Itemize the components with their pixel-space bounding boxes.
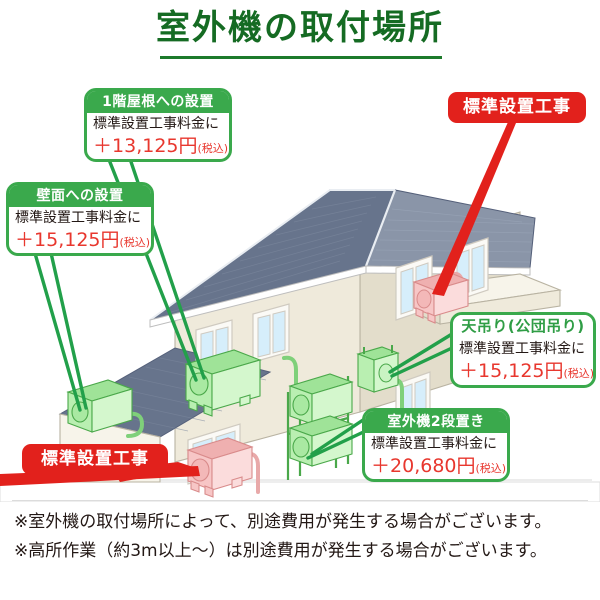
price-value: 15,125 (478, 360, 544, 382)
infographic-root: 室外機の取付場所 .wallA{fill:#efeadb;stroke:#b9b… (0, 0, 600, 600)
callout-ceiling-hang[interactable]: 天吊り(公団吊り) 標準設置工事料金に ＋15,125円(税込) (450, 312, 596, 388)
window-2f-mid (253, 304, 289, 362)
callout-roof-1f-price: ＋13,125円(税込) (93, 134, 223, 161)
price-prefix: ＋ (93, 135, 112, 157)
ceiling-hung-unit (358, 345, 398, 392)
footnote-divider (12, 500, 588, 501)
footnote-1: ※室外機の取付場所によって、別途費用が発生する場合がございます。 (14, 508, 594, 537)
price-currency: 円 (545, 360, 564, 382)
callout-ceiling-hang-header: 天吊り(公団吊り) (453, 315, 593, 338)
price-prefix: ＋ (459, 360, 478, 382)
callout-two-stage[interactable]: 室外機2段置き 標準設置工事料金に ＋20,680円(税込) (362, 408, 510, 482)
callout-two-stage-header: 室外機2段置き (365, 411, 507, 433)
title-underline (160, 56, 442, 59)
callout-wall-line1: 標準設置工事料金に (15, 209, 145, 228)
price-tax-note: (税込) (120, 236, 151, 249)
callout-two-stage-price: ＋20,680円(税込) (371, 454, 501, 481)
callout-two-stage-line1: 標準設置工事料金に (371, 435, 501, 454)
callout-roof-1f-line1: 標準設置工事料金に (93, 115, 223, 134)
badge-standard-install-bottom[interactable]: 標準設置工事 (22, 444, 168, 475)
footnotes: ※室外機の取付場所によって、別途費用が発生する場合がございます。 ※高所作業（約… (14, 508, 594, 566)
callout-roof-1f[interactable]: 1階屋根への設置 標準設置工事料金に ＋13,125円(税込) (84, 88, 232, 162)
price-value: 20,680 (390, 455, 456, 477)
footnote-2: ※高所作業（約3m以上〜）は別途費用が発生する場合がございます。 (14, 537, 594, 566)
price-tax-note: (税込) (476, 462, 507, 475)
price-value: 15,125 (34, 229, 100, 251)
price-tax-note: (税込) (198, 142, 229, 155)
price-prefix: ＋ (15, 229, 34, 251)
callout-wall-price: ＋15,125円(税込) (15, 228, 145, 255)
badge-standard-install-top[interactable]: 標準設置工事 (448, 92, 586, 123)
callout-roof-1f-header: 1階屋根への設置 (87, 91, 229, 113)
two-stage-stacked-units (288, 374, 352, 480)
price-currency: 円 (457, 455, 476, 477)
page-title: 室外機の取付場所 (0, 8, 600, 49)
callout-ceiling-hang-line1: 標準設置工事料金に (459, 340, 587, 359)
callout-ceiling-hang-price: ＋15,125円(税込) (459, 359, 587, 386)
price-value: 13,125 (112, 135, 178, 157)
price-currency: 円 (179, 135, 198, 157)
price-tax-note: (税込) (564, 367, 595, 380)
price-currency: 円 (101, 229, 120, 251)
callout-wall[interactable]: 壁面への設置 標準設置工事料金に ＋15,125円(税込) (6, 182, 154, 256)
callout-wall-header: 壁面への設置 (9, 185, 151, 207)
price-prefix: ＋ (371, 455, 390, 477)
